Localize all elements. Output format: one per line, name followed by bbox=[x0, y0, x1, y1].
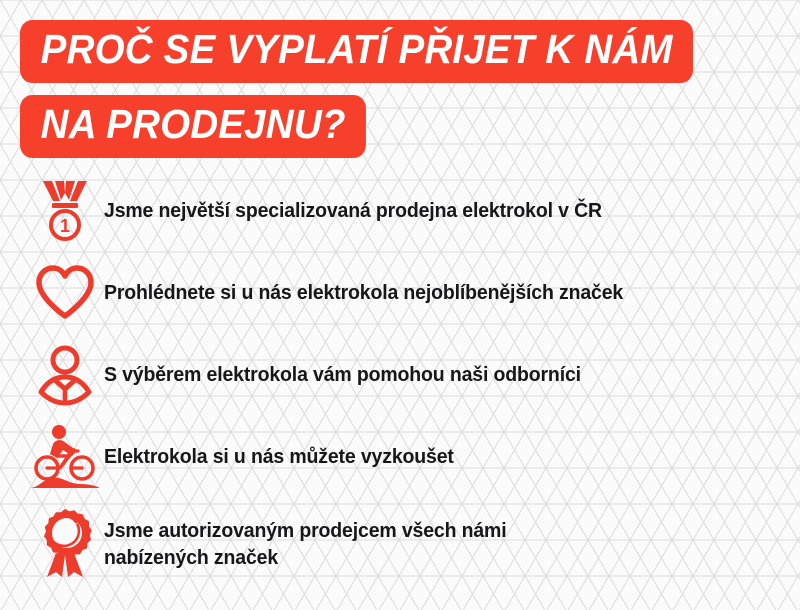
benefits-list: 1 Jsme největší specializovaná prodejna … bbox=[0, 170, 800, 590]
benefit-label: S výběrem elektrokola vám pomohou naši o… bbox=[104, 361, 765, 388]
benefit-label: Jsme největší specializovaná prodejna el… bbox=[104, 197, 765, 224]
benefit-item: 1 Jsme největší specializovaná prodejna … bbox=[0, 170, 800, 252]
consultant-person-icon bbox=[26, 339, 104, 411]
benefit-item: Prohlédnete si u nás elektrokola nejoblí… bbox=[0, 252, 800, 334]
heart-icon bbox=[26, 257, 104, 329]
medal-first-place-icon: 1 bbox=[26, 175, 104, 247]
benefit-label: Elektrokola si u nás můžete vyzkoušet bbox=[104, 443, 765, 470]
benefit-label: Prohlédnete si u nás elektrokola nejoblí… bbox=[104, 279, 765, 306]
promo-panel: PROČ SE VYPLATÍ PŘIJET K NÁM NA PRODEJNU… bbox=[0, 0, 800, 610]
svg-text:1: 1 bbox=[60, 216, 70, 236]
benefit-item: Elektrokola si u nás můžete vyzkoušet bbox=[0, 416, 800, 498]
headline-banner-line-2: NA PRODEJNU? bbox=[20, 95, 388, 158]
benefit-item: S výběrem elektrokola vám pomohou naši o… bbox=[0, 334, 800, 416]
cyclist-on-hill-icon bbox=[26, 421, 104, 493]
headline-text-line-1: PROČ SE VYPLATÍ PŘIJET K NÁM bbox=[20, 20, 693, 83]
headline-text-line-2: NA PRODEJNU? bbox=[20, 95, 366, 158]
benefit-item: Jsme autorizovaným prodejcem všech námi … bbox=[0, 498, 800, 590]
award-rosette-icon bbox=[26, 508, 104, 580]
benefit-label: Jsme autorizovaným prodejcem všech námi … bbox=[104, 517, 765, 571]
headline-banner-line-1: PROČ SE VYPLATÍ PŘIJET K NÁM bbox=[20, 20, 736, 83]
